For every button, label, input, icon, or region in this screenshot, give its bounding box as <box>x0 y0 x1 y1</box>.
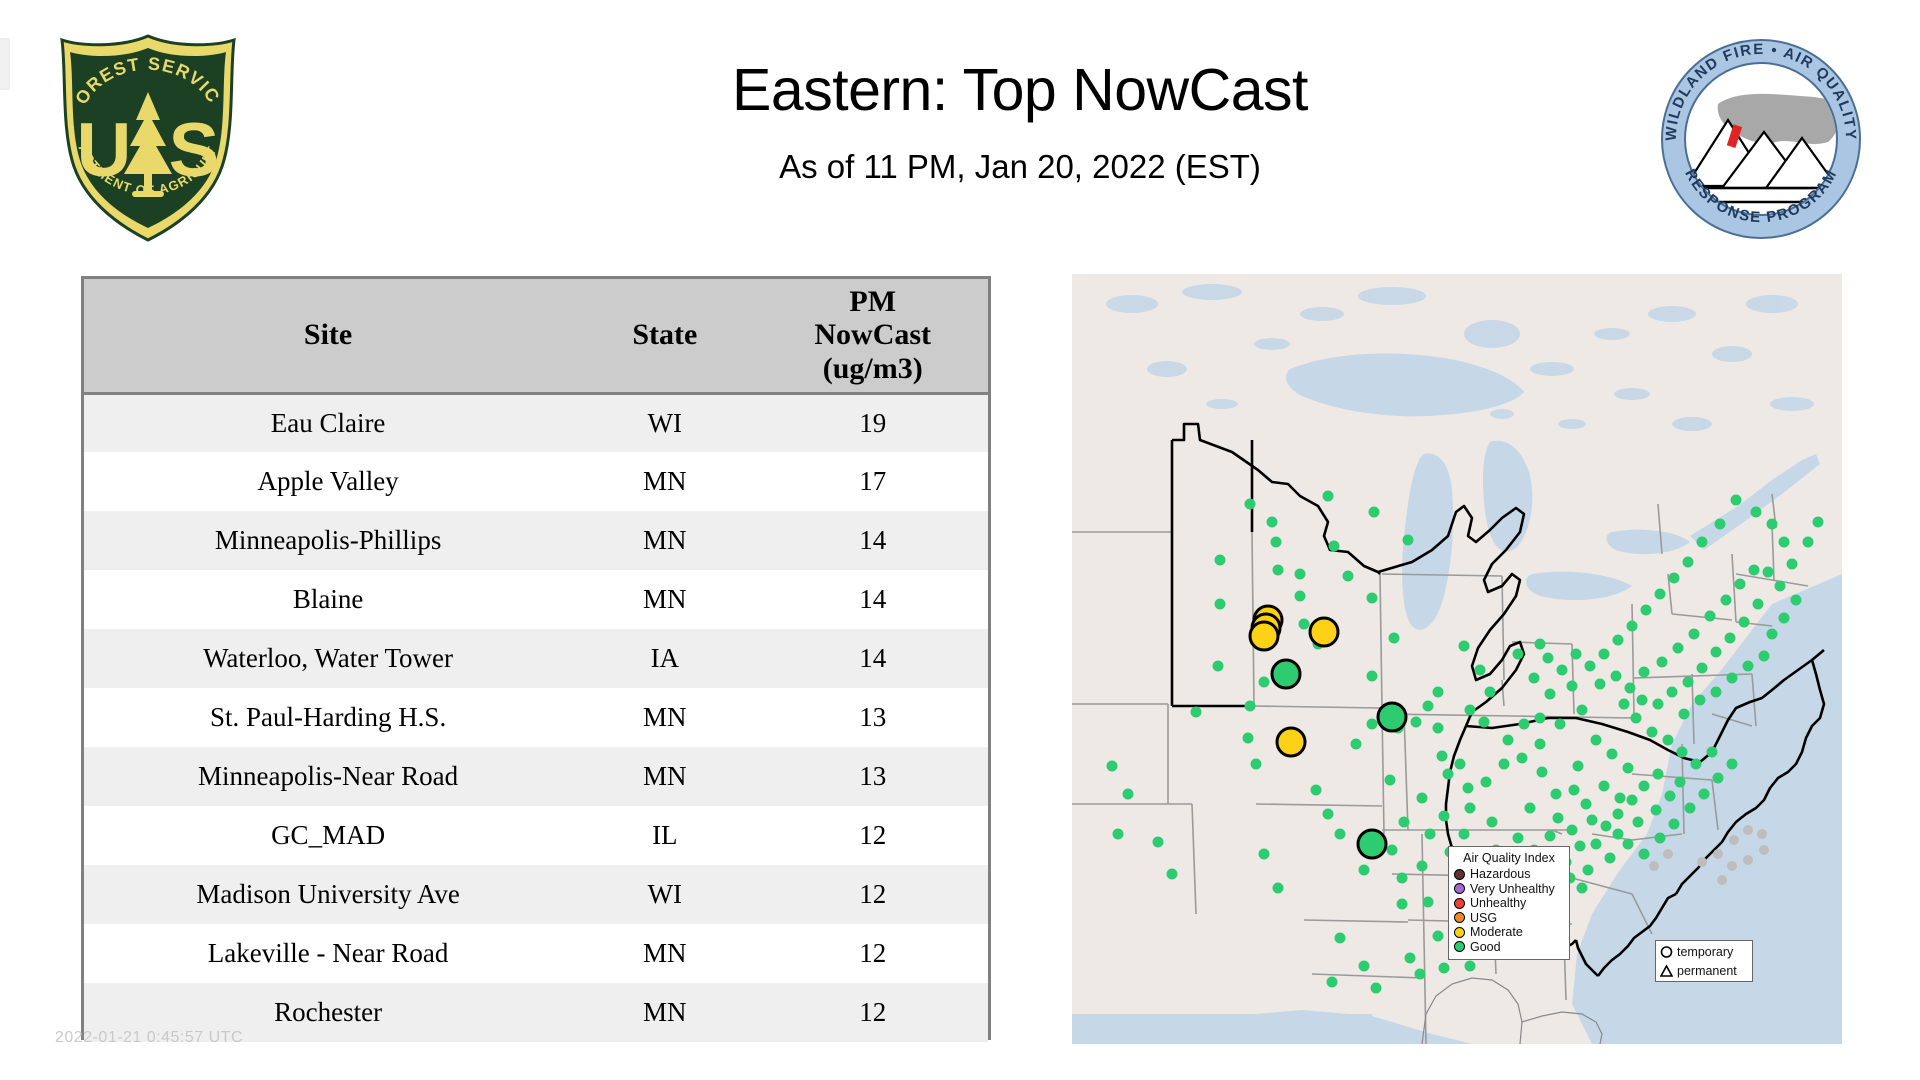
legend-color-swatch-unhealthy <box>1454 898 1465 909</box>
legend-label: Unhealthy <box>1470 897 1526 910</box>
table-header-row: Site State PM NowCast (ug/m3) <box>84 279 988 393</box>
cell-value: 12 <box>757 865 988 924</box>
top-nowcast-table: Site State PM NowCast (ug/m3) Eau Claire… <box>81 276 991 1040</box>
legend-item-very-unhealthy: Very Unhealthy <box>1454 882 1564 897</box>
cell-state: WI <box>572 393 757 452</box>
marker-item-temporary: temporary <box>1660 943 1748 962</box>
cell-site: Blaine <box>84 570 572 629</box>
legend-title: Air Quality Index <box>1454 851 1564 865</box>
header-line: State <box>632 318 697 351</box>
slide-root: FOREST SERVICE U S DEPARTMENT OF AGRICUL… <box>0 0 1920 1080</box>
marker-label: permanent <box>1677 965 1737 978</box>
cell-state: MN <box>572 747 757 806</box>
wfaqrp-roundel-icon: WILDLAND FIRE • AIR QUALITY RESPONSE PRO… <box>1660 38 1862 240</box>
cell-value: 14 <box>757 570 988 629</box>
page-title: Eastern: Top NowCast <box>420 60 1620 122</box>
table-row: GC_MAD IL 12 <box>84 806 988 865</box>
legend-color-swatch-moderate <box>1454 927 1465 938</box>
legend-label: Moderate <box>1470 926 1523 939</box>
cell-state: WI <box>572 865 757 924</box>
cell-state: MN <box>572 983 757 1042</box>
cell-site: Minneapolis-Near Road <box>84 747 572 806</box>
cell-state: MN <box>572 688 757 747</box>
legend-color-swatch-very-unhealthy <box>1454 883 1465 894</box>
cell-site: St. Paul-Harding H.S. <box>84 688 572 747</box>
cell-state: MN <box>572 570 757 629</box>
cell-value: 13 <box>757 747 988 806</box>
table-body: Eau Claire WI 19 Apple Valley MN 17 Minn… <box>84 393 988 1042</box>
wfaqrp-logo: WILDLAND FIRE • AIR QUALITY RESPONSE PRO… <box>1660 38 1862 240</box>
legend-item-hazardous: Hazardous <box>1454 867 1564 882</box>
header-line: PM <box>763 285 982 319</box>
cell-value: 12 <box>757 924 988 983</box>
table-row: Eau Claire WI 19 <box>84 393 988 452</box>
legend-color-swatch-hazardous <box>1454 869 1465 880</box>
cell-site: Apple Valley <box>84 452 572 511</box>
table-row: Minneapolis-Near Road MN 13 <box>84 747 988 806</box>
forest-service-shield-icon: FOREST SERVICE U S DEPARTMENT OF AGRICUL… <box>48 28 248 248</box>
legend-label: Good <box>1470 941 1501 954</box>
marker-item-permanent: permanent <box>1660 962 1748 981</box>
cell-value: 14 <box>757 511 988 570</box>
cell-value: 12 <box>757 806 988 865</box>
header-line: Site <box>304 318 352 351</box>
left-edge-notch <box>0 38 10 90</box>
cell-state: IA <box>572 629 757 688</box>
cell-site: GC_MAD <box>84 806 572 865</box>
table-row: Blaine MN 14 <box>84 570 988 629</box>
header-line: NowCast <box>763 318 982 352</box>
cell-value: 19 <box>757 393 988 452</box>
legend-label: Very Unhealthy <box>1470 883 1555 896</box>
header-line: (ug/m3) <box>763 352 982 386</box>
column-header-pm-nowcast: PM NowCast (ug/m3) <box>757 279 988 393</box>
table-row: Lakeville - Near Road MN 12 <box>84 924 988 983</box>
table-row: Waterloo, Water Tower IA 14 <box>84 629 988 688</box>
legend-label: USG <box>1470 912 1497 925</box>
table-row: St. Paul-Harding H.S. MN 13 <box>84 688 988 747</box>
cell-state: MN <box>572 924 757 983</box>
cell-state: MN <box>572 511 757 570</box>
table-row: Minneapolis-Phillips MN 14 <box>84 511 988 570</box>
forest-service-logo: FOREST SERVICE U S DEPARTMENT OF AGRICUL… <box>48 28 248 248</box>
legend-item-good: Good <box>1454 940 1564 955</box>
triangle-marker-icon <box>1660 964 1673 979</box>
legend-color-swatch-good <box>1454 941 1465 952</box>
aqi-legend: Air Quality Index Hazardous Very Unhealt… <box>1448 846 1570 960</box>
circle-marker-icon <box>1660 945 1673 960</box>
cell-value: 13 <box>757 688 988 747</box>
cell-site: Madison University Ave <box>84 865 572 924</box>
legend-label: Hazardous <box>1470 868 1530 881</box>
cell-site: Minneapolis-Phillips <box>84 511 572 570</box>
cell-site: Eau Claire <box>84 393 572 452</box>
column-header-state: State <box>572 279 757 393</box>
cell-state: IL <box>572 806 757 865</box>
page-subtitle: As of 11 PM, Jan 20, 2022 (EST) <box>420 148 1620 186</box>
column-header-site: Site <box>84 279 572 393</box>
cell-site: Waterloo, Water Tower <box>84 629 572 688</box>
legend-item-usg: USG <box>1454 911 1564 926</box>
marker-label: temporary <box>1677 946 1733 959</box>
cell-site: Lakeville - Near Road <box>84 924 572 983</box>
cell-value: 12 <box>757 983 988 1042</box>
monitor-type-legend: temporary permanent <box>1655 940 1753 982</box>
cell-value: 17 <box>757 452 988 511</box>
footer-timestamp: 2022-01-21 0:45:57 UTC <box>55 1029 243 1047</box>
table-row: Apple Valley MN 17 <box>84 452 988 511</box>
legend-item-moderate: Moderate <box>1454 925 1564 940</box>
legend-color-swatch-usg <box>1454 912 1465 923</box>
legend-item-unhealthy: Unhealthy <box>1454 896 1564 911</box>
cell-state: MN <box>572 452 757 511</box>
cell-value: 14 <box>757 629 988 688</box>
table-row: Madison University Ave WI 12 <box>84 865 988 924</box>
